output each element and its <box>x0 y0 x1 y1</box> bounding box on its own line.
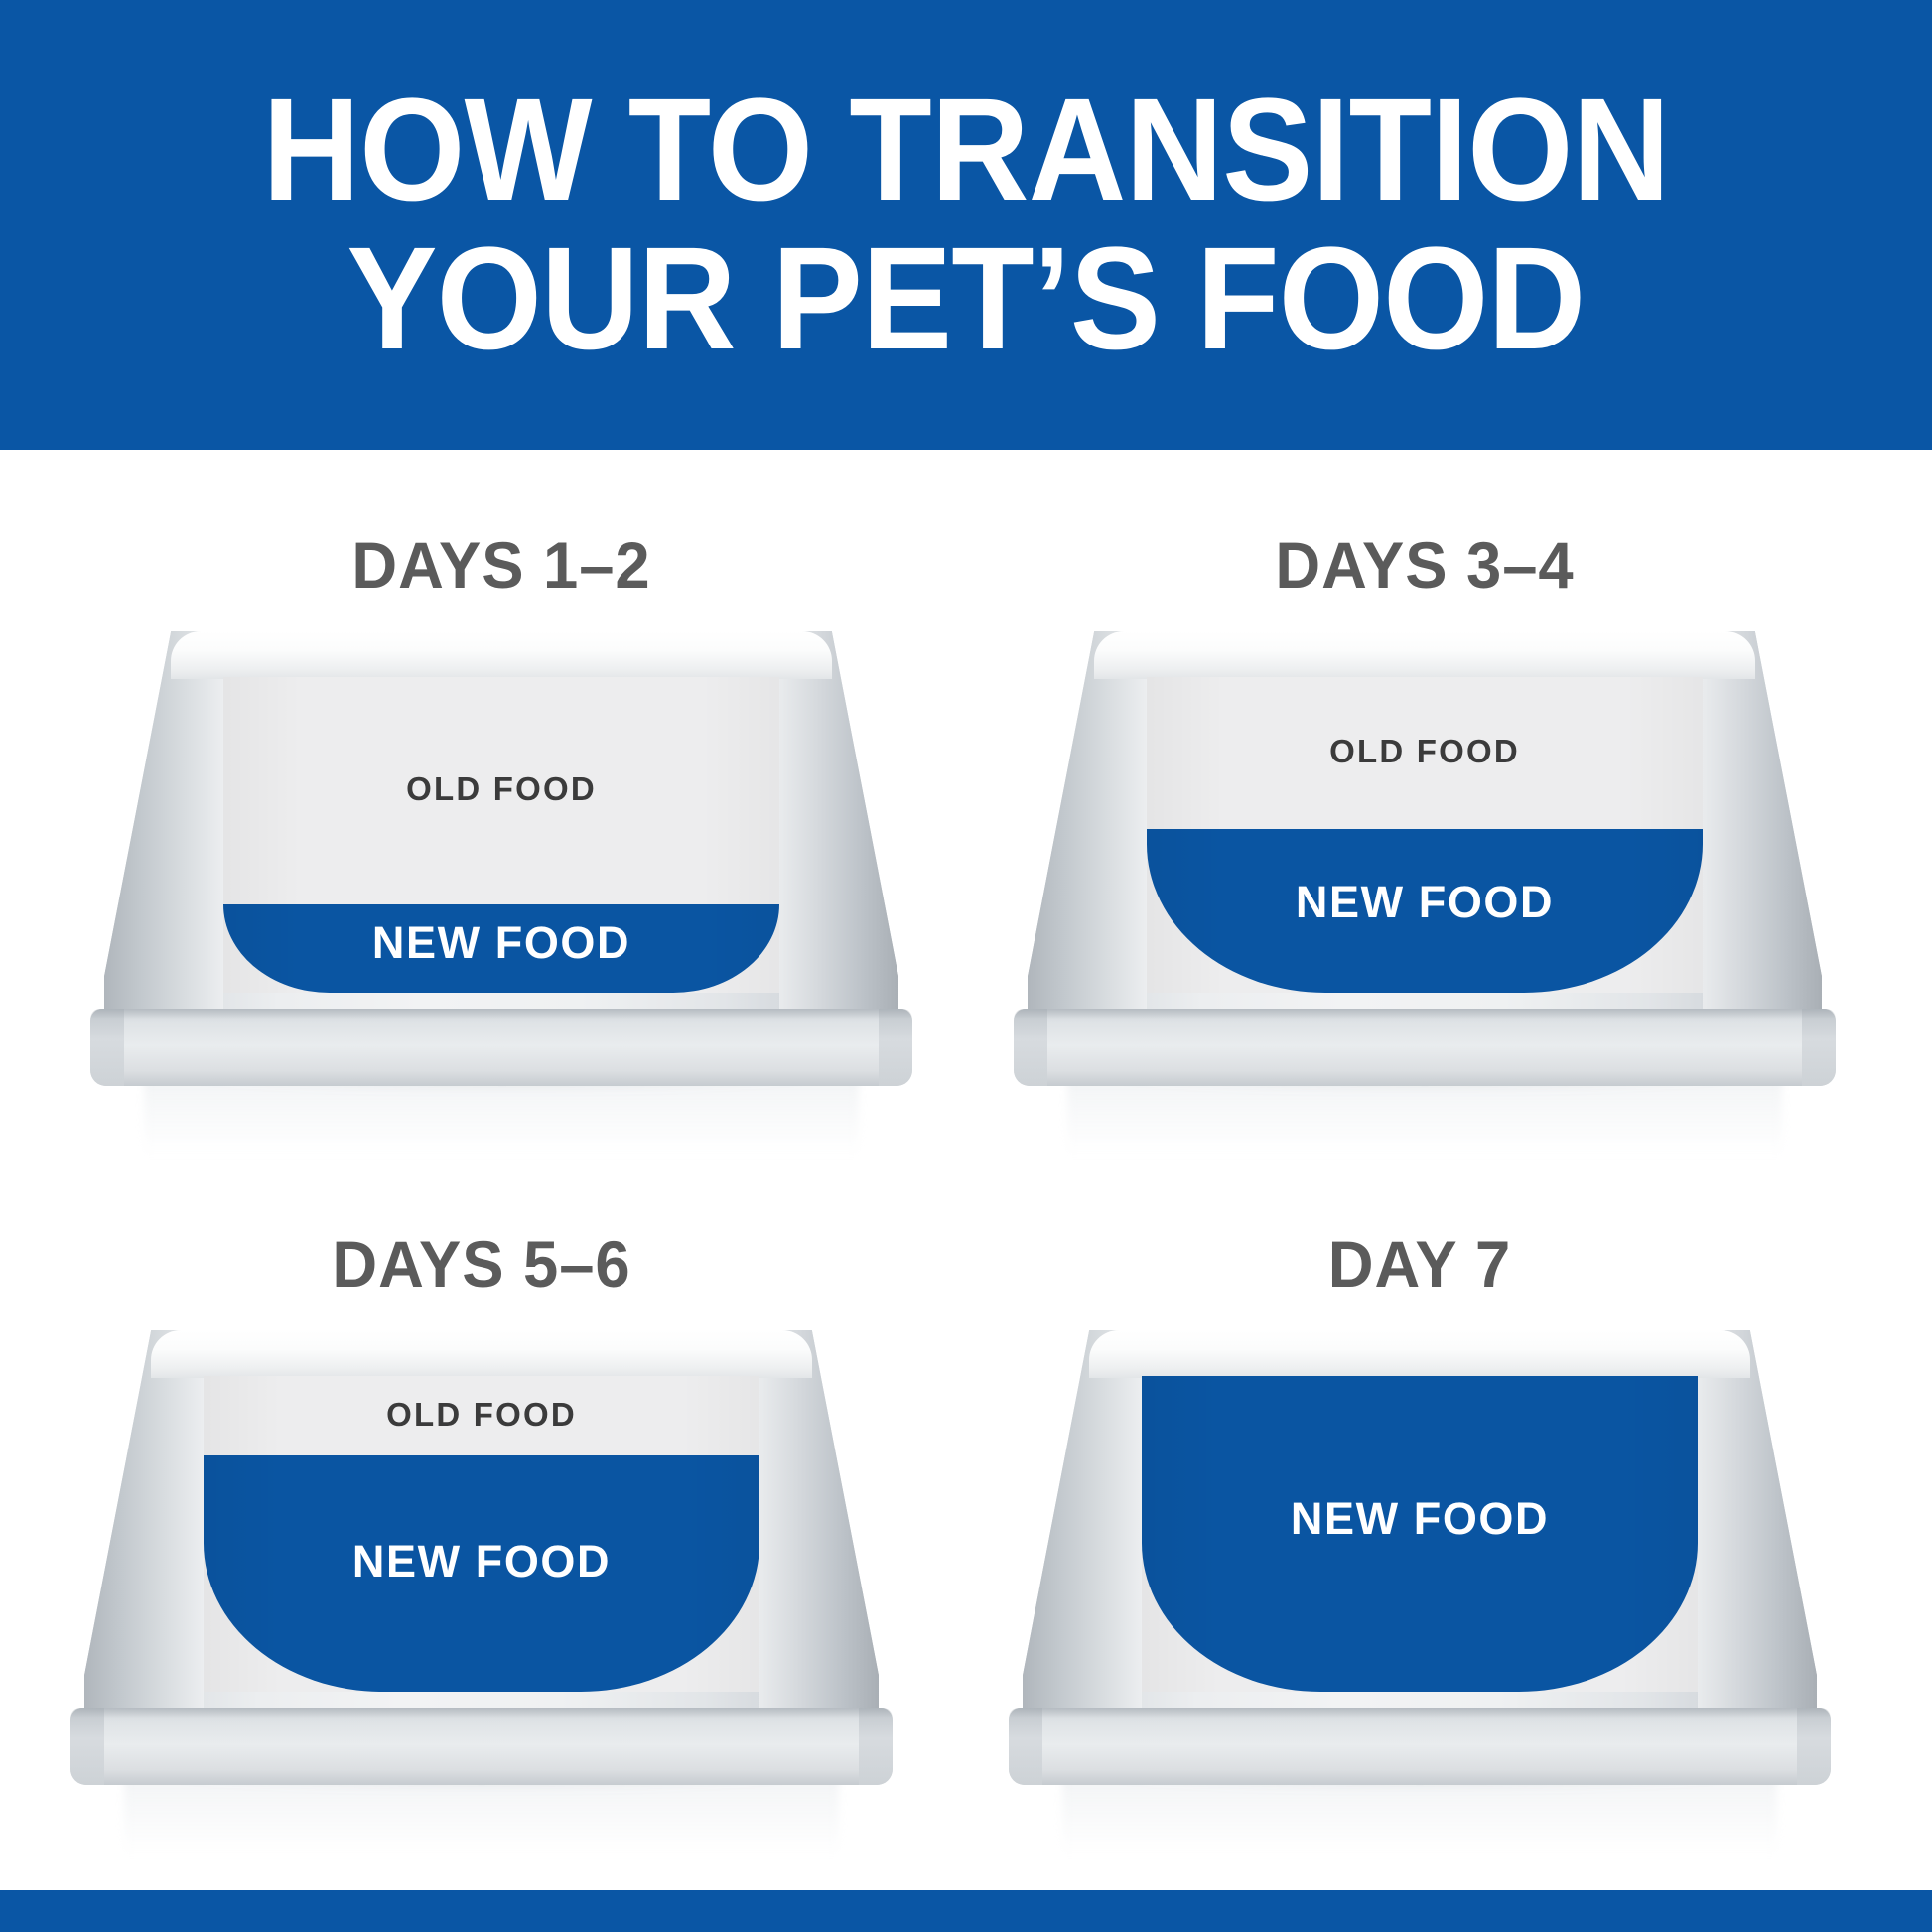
header-banner: HOW TO TRANSITION YOUR PET’S FOOD <box>0 0 1932 450</box>
new-food-label: NEW FOOD <box>1147 877 1703 928</box>
step-card-days-5-6: DAYS 5–6 OLD FOOD NEW FOOD <box>15 1145 948 1840</box>
bowl-base-notch-left <box>1014 1009 1047 1086</box>
bowl-base <box>1014 1009 1836 1086</box>
new-food-label: NEW FOOD <box>223 917 779 969</box>
bowl-base <box>1009 1708 1831 1785</box>
food-window-days-1-2: OLD FOOD NEW FOOD <box>223 677 779 993</box>
bowl-base-notch-left <box>1009 1708 1042 1785</box>
bowl-base <box>90 1009 912 1086</box>
step-label-days-5-6: DAYS 5–6 <box>34 1226 929 1302</box>
bowl-base-notch-right <box>859 1708 893 1785</box>
old-food-label: OLD FOOD <box>223 770 779 808</box>
step-card-days-3-4: DAYS 3–4 OLD FOOD NEW FOOD <box>958 450 1891 1145</box>
bowl-shoulder-right <box>1698 1330 1817 1731</box>
bowl-shoulder-right <box>1703 631 1822 1033</box>
footer-bar <box>0 1890 1932 1932</box>
bowl-rim <box>171 631 832 679</box>
step-label-days-1-2: DAYS 1–2 <box>54 527 949 603</box>
food-window-day-7: OLD FOOD NEW FOOD <box>1142 1376 1698 1692</box>
step-label-days-3-4: DAYS 3–4 <box>977 527 1872 603</box>
bowl-rim <box>1094 631 1755 679</box>
bowl-rim <box>1089 1330 1750 1378</box>
new-food-label: NEW FOOD <box>1142 1493 1698 1545</box>
bowl-rim <box>151 1330 812 1378</box>
pet-food-bowl-days-3-4: OLD FOOD NEW FOOD <box>1028 631 1822 1098</box>
food-window-days-3-4: OLD FOOD NEW FOOD <box>1147 677 1703 993</box>
bowl-shoulder-left <box>84 1330 204 1731</box>
pet-food-bowl-day-7: OLD FOOD NEW FOOD <box>1023 1330 1817 1797</box>
new-food-label: NEW FOOD <box>204 1536 759 1587</box>
bowl-shoulder-left <box>1028 631 1147 1033</box>
bowl-shoulder-right <box>759 1330 879 1731</box>
page-title: HOW TO TRANSITION YOUR PET’S FOOD <box>207 76 1725 374</box>
bowl-shoulder-right <box>779 631 898 1033</box>
bowl-base-notch-left <box>90 1009 124 1086</box>
bowl-shoulder-left <box>104 631 223 1033</box>
old-food-label: OLD FOOD <box>204 1396 759 1434</box>
bowl-base-notch-right <box>1797 1708 1831 1785</box>
bowl-base <box>70 1708 893 1785</box>
bowl-base-notch-right <box>1802 1009 1836 1086</box>
pet-food-bowl-days-5-6: OLD FOOD NEW FOOD <box>84 1330 879 1797</box>
step-label-day-7: DAY 7 <box>972 1226 1867 1302</box>
bowl-base-notch-right <box>879 1009 912 1086</box>
pet-food-bowl-days-1-2: OLD FOOD NEW FOOD <box>104 631 898 1098</box>
food-window-days-5-6: OLD FOOD NEW FOOD <box>204 1376 759 1692</box>
bowl-shoulder-left <box>1023 1330 1142 1731</box>
bowl-base-notch-left <box>70 1708 104 1785</box>
old-food-label: OLD FOOD <box>1147 733 1703 770</box>
transition-steps-grid: DAYS 1–2 OLD FOOD NEW FOOD DAYS 3–4 <box>0 450 1932 1890</box>
step-card-days-1-2: DAYS 1–2 OLD FOOD NEW FOOD <box>35 450 968 1145</box>
step-card-day-7: DAY 7 OLD FOOD NEW FOOD <box>953 1145 1886 1840</box>
